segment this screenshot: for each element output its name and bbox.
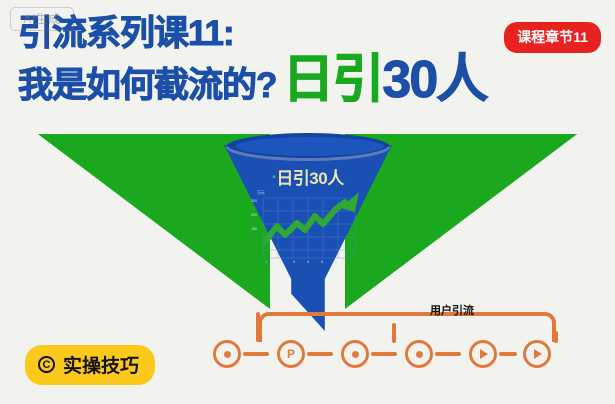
flow-bracket: [258, 312, 556, 342]
chapter-badge: 课程章节11: [504, 22, 601, 53]
ai-watermark: AI生成: [10, 7, 74, 31]
headline-highlight-blue: 30人: [382, 54, 486, 106]
node-convert[interactable]: [469, 340, 497, 368]
tips-badge: C 实操技巧: [25, 345, 155, 385]
funnel-rim-inner: [236, 137, 384, 156]
headline-line-2: 我是如何截流的?: [18, 65, 276, 107]
funnel-label-text: 日引30人: [276, 169, 343, 188]
letter-p-icon: P: [287, 348, 295, 360]
flow-dash-1: [243, 352, 269, 356]
growth-chart: 万元 300 200 100 1 2 3 4 5 6: [251, 190, 366, 270]
headline-line-1: 引流系列课11:: [18, 14, 486, 54]
copyright-icon: C: [38, 356, 55, 373]
dot-icon: [352, 351, 359, 358]
flow-stem-middle: [392, 323, 396, 343]
funnel-label: ◦日引30人: [224, 164, 392, 189]
flow-dash-3: [371, 352, 397, 356]
node-traffic[interactable]: [405, 340, 433, 368]
node-channel[interactable]: [341, 340, 369, 368]
flow-stem-right: [554, 331, 558, 343]
play-arrow-icon: [480, 349, 488, 359]
headline-block: 引流系列课11: 我是如何截流的? 日引 30人: [18, 14, 486, 107]
flow-dash-4: [435, 352, 461, 356]
user-flow-diagram: 用户引流 P: [205, 295, 605, 395]
play-arrow-icon: [534, 349, 542, 359]
funnel-rim: [226, 133, 390, 161]
dot-icon: [224, 351, 231, 358]
tips-badge-label: 实操技巧: [63, 351, 139, 378]
headline-highlight-green: 日引: [282, 54, 382, 106]
poster-canvas: AI生成 引流系列课11: 我是如何截流的? 日引 30人 课程章节11 ◦日引…: [0, 0, 615, 404]
headline-line-2-row: 我是如何截流的? 日引 30人: [18, 54, 486, 107]
flow-stem-left: [256, 312, 260, 342]
chart-svg: [251, 190, 366, 270]
node-platform[interactable]: P: [277, 340, 305, 368]
flow-label: 用户引流: [430, 302, 474, 318]
node-result[interactable]: [523, 340, 551, 368]
funnel-label-marker: ◦: [272, 172, 275, 183]
dot-icon: [416, 351, 423, 358]
chart-line: [265, 202, 345, 242]
flow-dash-5: [499, 352, 517, 356]
flow-dash-2: [307, 352, 333, 356]
node-origin[interactable]: [213, 340, 241, 368]
